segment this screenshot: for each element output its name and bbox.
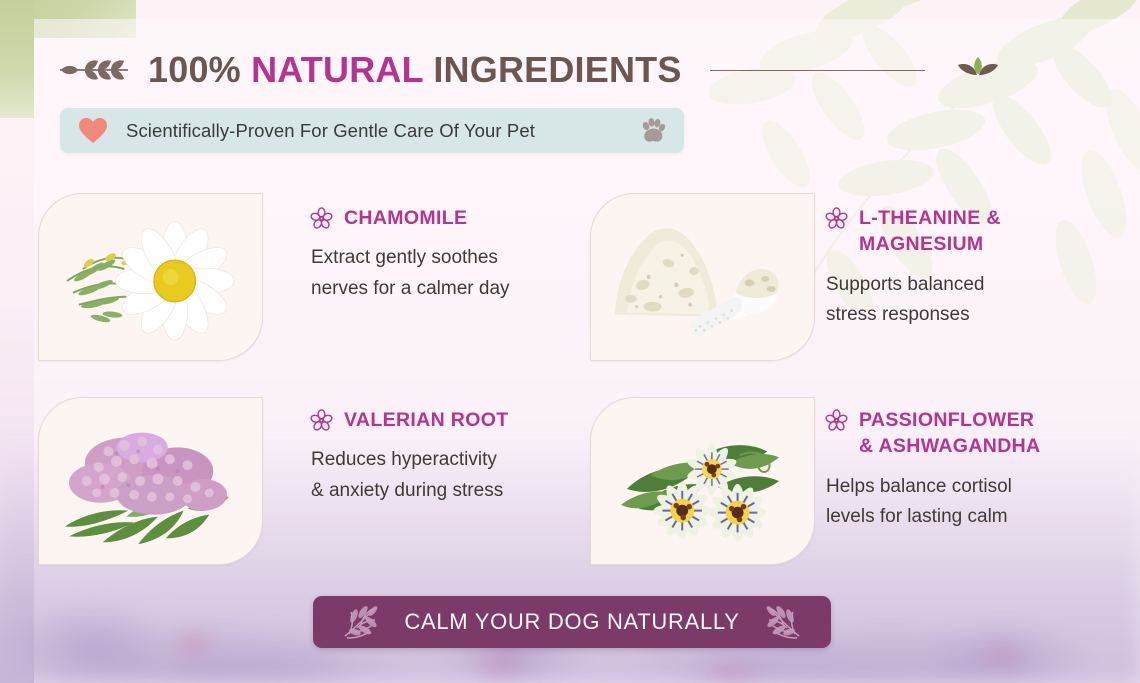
status-badge: Scientifically-Proven For Gentle Care Of…	[60, 108, 684, 153]
ingredient-title: CHAMOMILE	[344, 205, 467, 231]
flower-icon	[310, 409, 333, 432]
flower-icon	[310, 207, 333, 230]
sprig-icon	[339, 602, 387, 642]
ingredient-title: PASSIONFLOWER & ASHWAGANDHA	[859, 407, 1041, 460]
title-prefix: 100%	[148, 49, 251, 90]
ingredient-grid: CHAMOMILE Extract gently soothes nerves …	[38, 193, 1102, 565]
flower-icon	[825, 207, 848, 230]
grid-spacer	[590, 361, 815, 397]
ingredient-description: Extract gently soothes nerves for a calm…	[311, 243, 590, 305]
grid-spacer	[815, 361, 1105, 397]
paw-print-icon	[640, 118, 666, 144]
cta-button[interactable]: CALM YOUR DOG NATURALLY	[313, 596, 831, 648]
chamomile-photo	[39, 194, 262, 360]
passionflower-photo	[591, 398, 814, 564]
poster-canvas: 100% NATURAL INGREDIENTS Scientifically-…	[0, 0, 1140, 683]
cta-label: CALM YOUR DOG NATURALLY	[404, 609, 739, 635]
header-divider	[710, 70, 925, 71]
sprout-leaf-icon	[951, 53, 1005, 87]
title-suffix: INGREDIENTS	[423, 49, 681, 90]
sprig-icon	[757, 602, 805, 642]
ingredient-heading: PASSIONFLOWER & ASHWAGANDHA	[825, 407, 1105, 460]
page-title: 100% NATURAL INGREDIENTS	[148, 52, 682, 88]
grid-spacer	[300, 361, 590, 397]
header: 100% NATURAL INGREDIENTS	[58, 40, 1140, 100]
ingredient-image-valerian	[38, 397, 263, 565]
ingredient-description: Supports balanced stress responses	[826, 270, 1105, 332]
valerian-root-photo	[39, 398, 262, 564]
ingredient-text-chamomile: CHAMOMILE Extract gently soothes nerves …	[300, 193, 590, 361]
ingredient-heading: VALERIAN ROOT	[310, 407, 590, 433]
corner-accent-vertical	[0, 0, 34, 118]
ingredient-text-valerian: VALERIAN ROOT Reduces hyperactivity & an…	[300, 397, 590, 565]
ingredient-text-magnesium: L-THEANINE & MAGNESIUM Supports balanced…	[815, 193, 1105, 361]
heart-icon	[78, 117, 108, 145]
ingredient-text-passionflower: PASSIONFLOWER & ASHWAGANDHA Helps balanc…	[815, 397, 1105, 565]
leafy-branch-icon	[58, 57, 130, 83]
ingredient-image-passionflower	[590, 397, 815, 565]
ingredient-heading: L-THEANINE & MAGNESIUM	[825, 205, 1105, 258]
ingredient-image-magnesium	[590, 193, 815, 361]
flower-icon	[825, 409, 848, 432]
ingredient-image-chamomile	[38, 193, 263, 361]
ingredient-title: L-THEANINE & MAGNESIUM	[859, 205, 1001, 258]
title-accent: NATURAL	[251, 49, 423, 90]
ingredient-heading: CHAMOMILE	[310, 205, 590, 231]
ingredient-title: VALERIAN ROOT	[344, 407, 509, 433]
magnesium-powder-photo	[591, 194, 814, 360]
grid-spacer	[38, 361, 300, 397]
ingredient-description: Helps balance cortisol levels for lastin…	[826, 472, 1105, 534]
ingredient-description: Reduces hyperactivity & anxiety during s…	[311, 445, 590, 507]
badge-label: Scientifically-Proven For Gentle Care Of…	[126, 120, 632, 142]
